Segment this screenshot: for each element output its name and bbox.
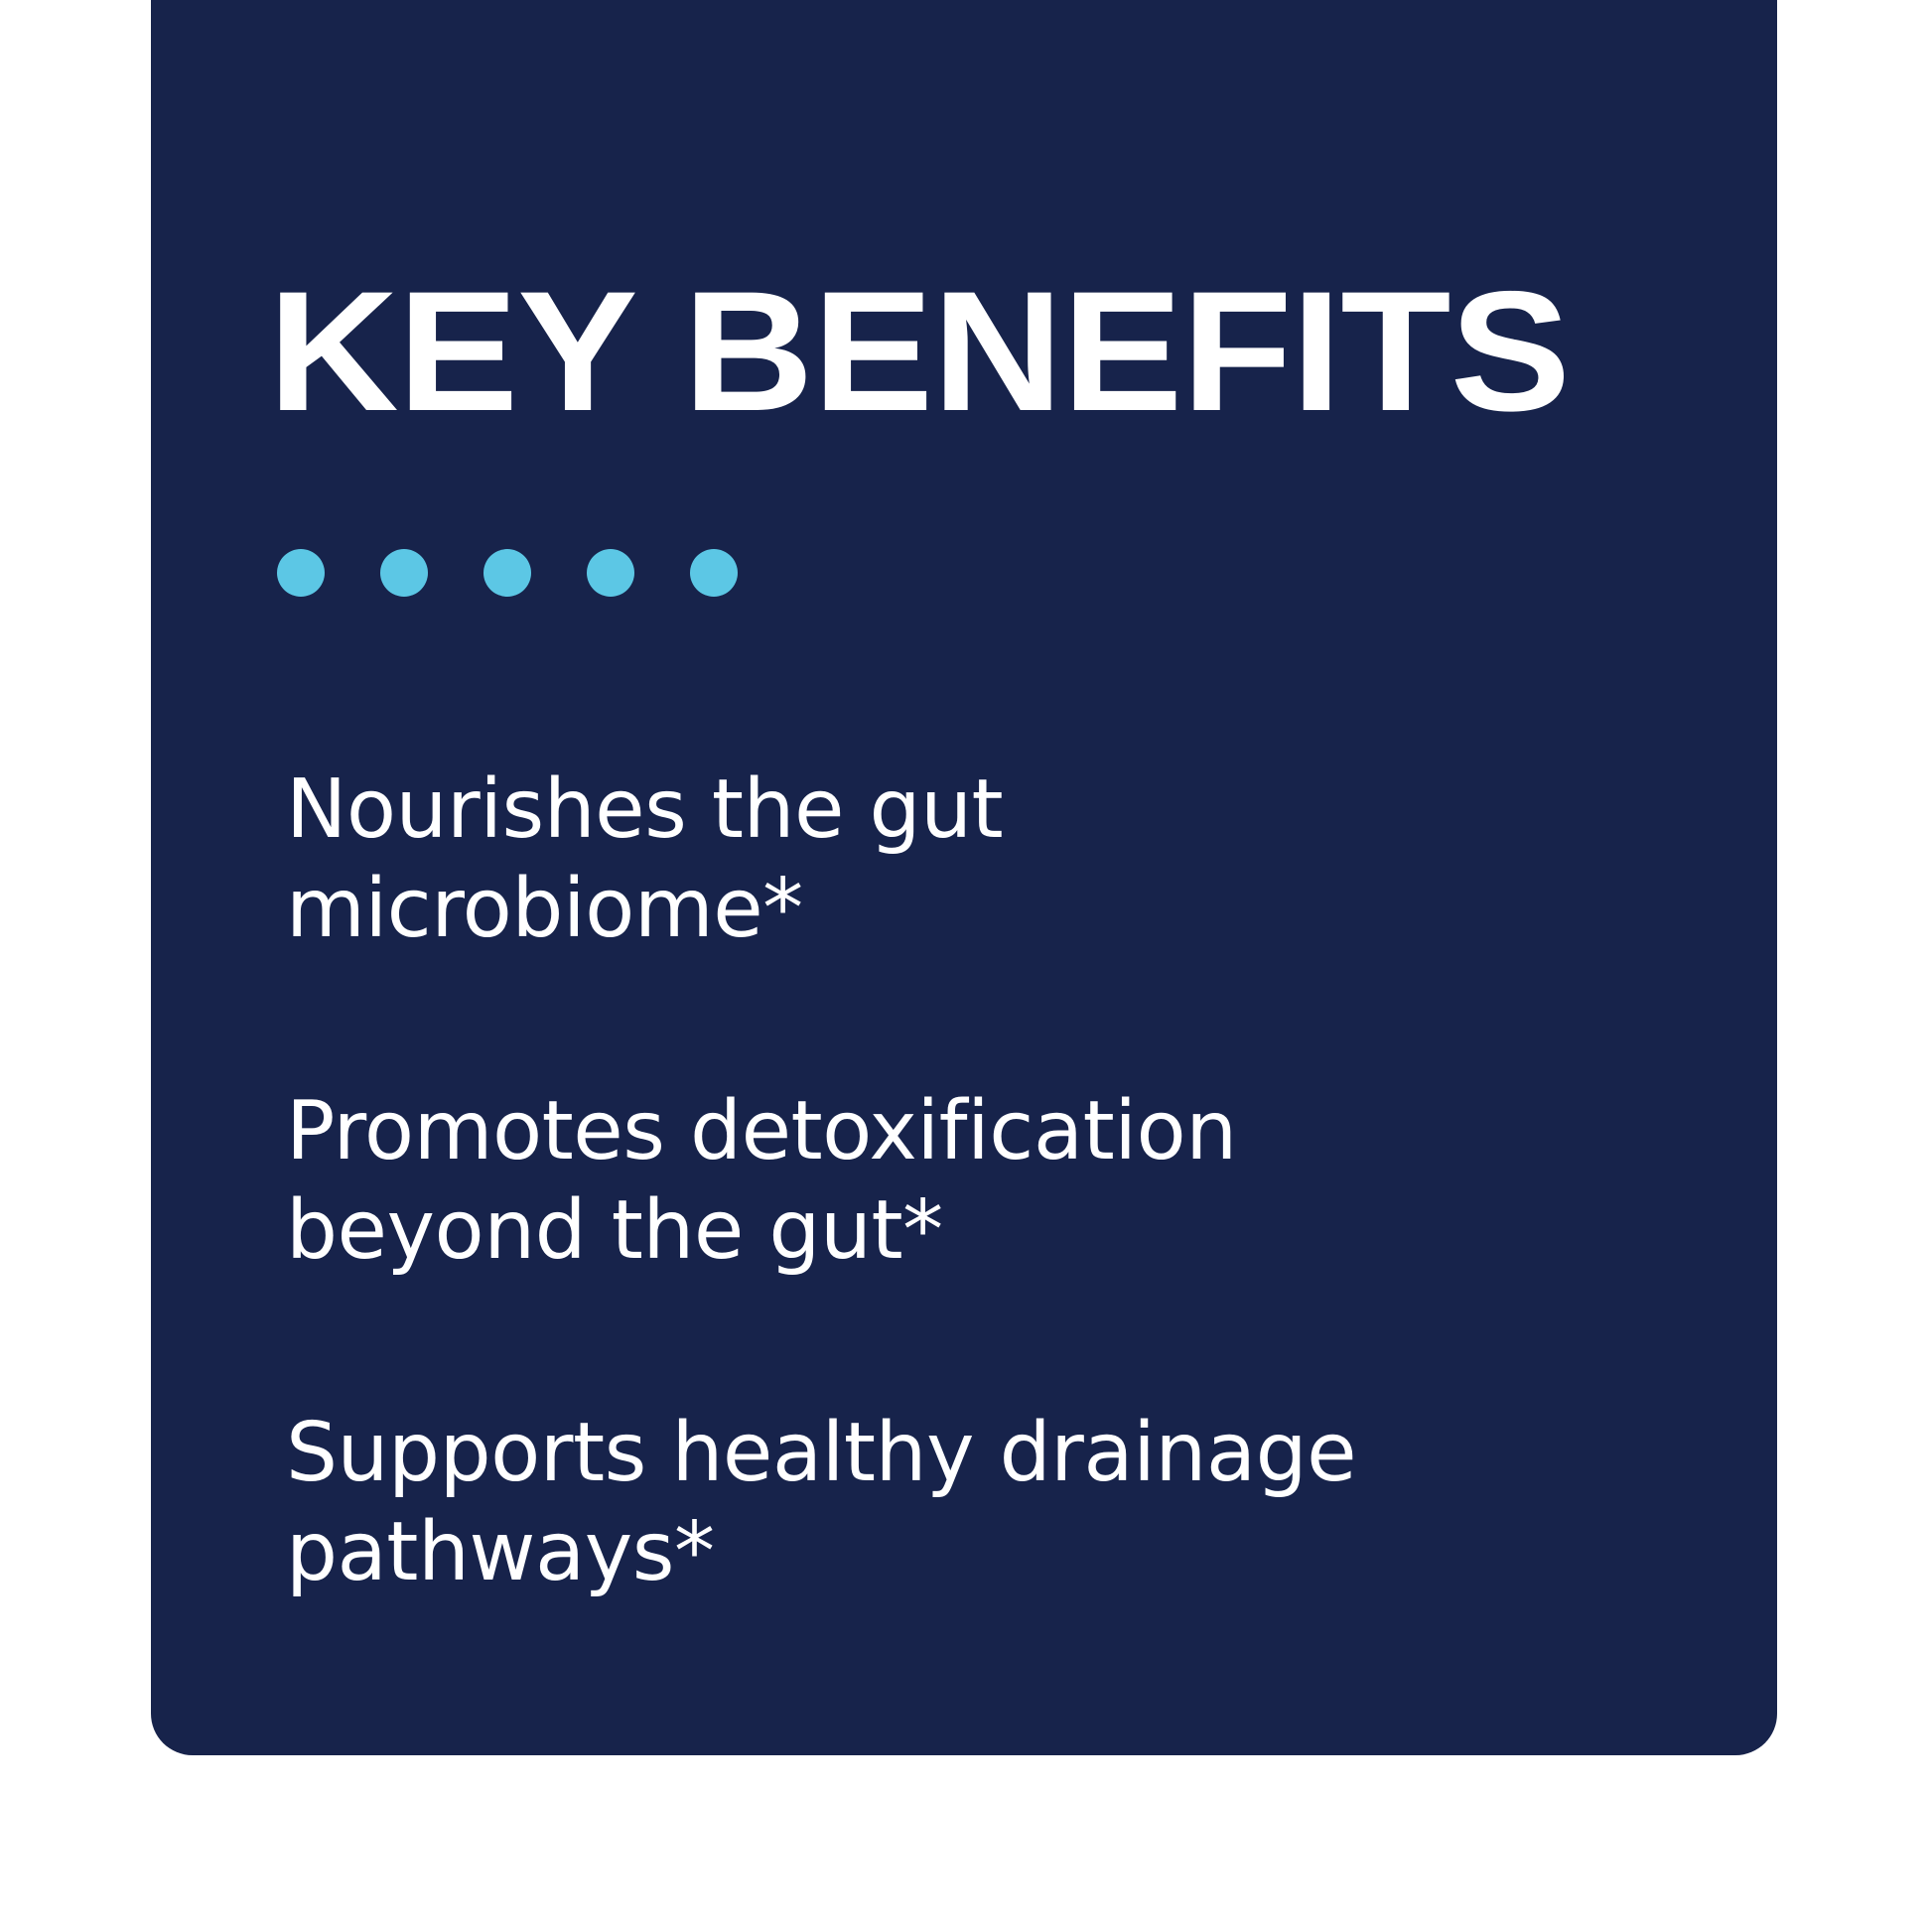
accent-dot-icon	[380, 549, 428, 597]
page-title: KEY BENEFITS	[268, 266, 1570, 437]
accent-dot-icon	[277, 549, 325, 597]
accent-dot-icon	[690, 549, 738, 597]
accent-dot-icon	[483, 549, 531, 597]
list-item: Promotes detoxification beyond the gut*	[286, 1082, 1457, 1281]
accent-dot-icon	[587, 549, 634, 597]
key-benefits-card: KEY BENEFITS Nourishes the gut microbiom…	[151, 0, 1777, 1755]
list-item: Supports healthy drainage pathways*	[286, 1404, 1457, 1602]
product-benefits-graphic: KEY BENEFITS Nourishes the gut microbiom…	[0, 0, 1932, 1932]
accent-dot-row	[277, 549, 738, 597]
benefits-list: Nourishes the gut microbiome* Promotes d…	[286, 760, 1457, 1602]
list-item: Nourishes the gut microbiome*	[286, 760, 1457, 959]
